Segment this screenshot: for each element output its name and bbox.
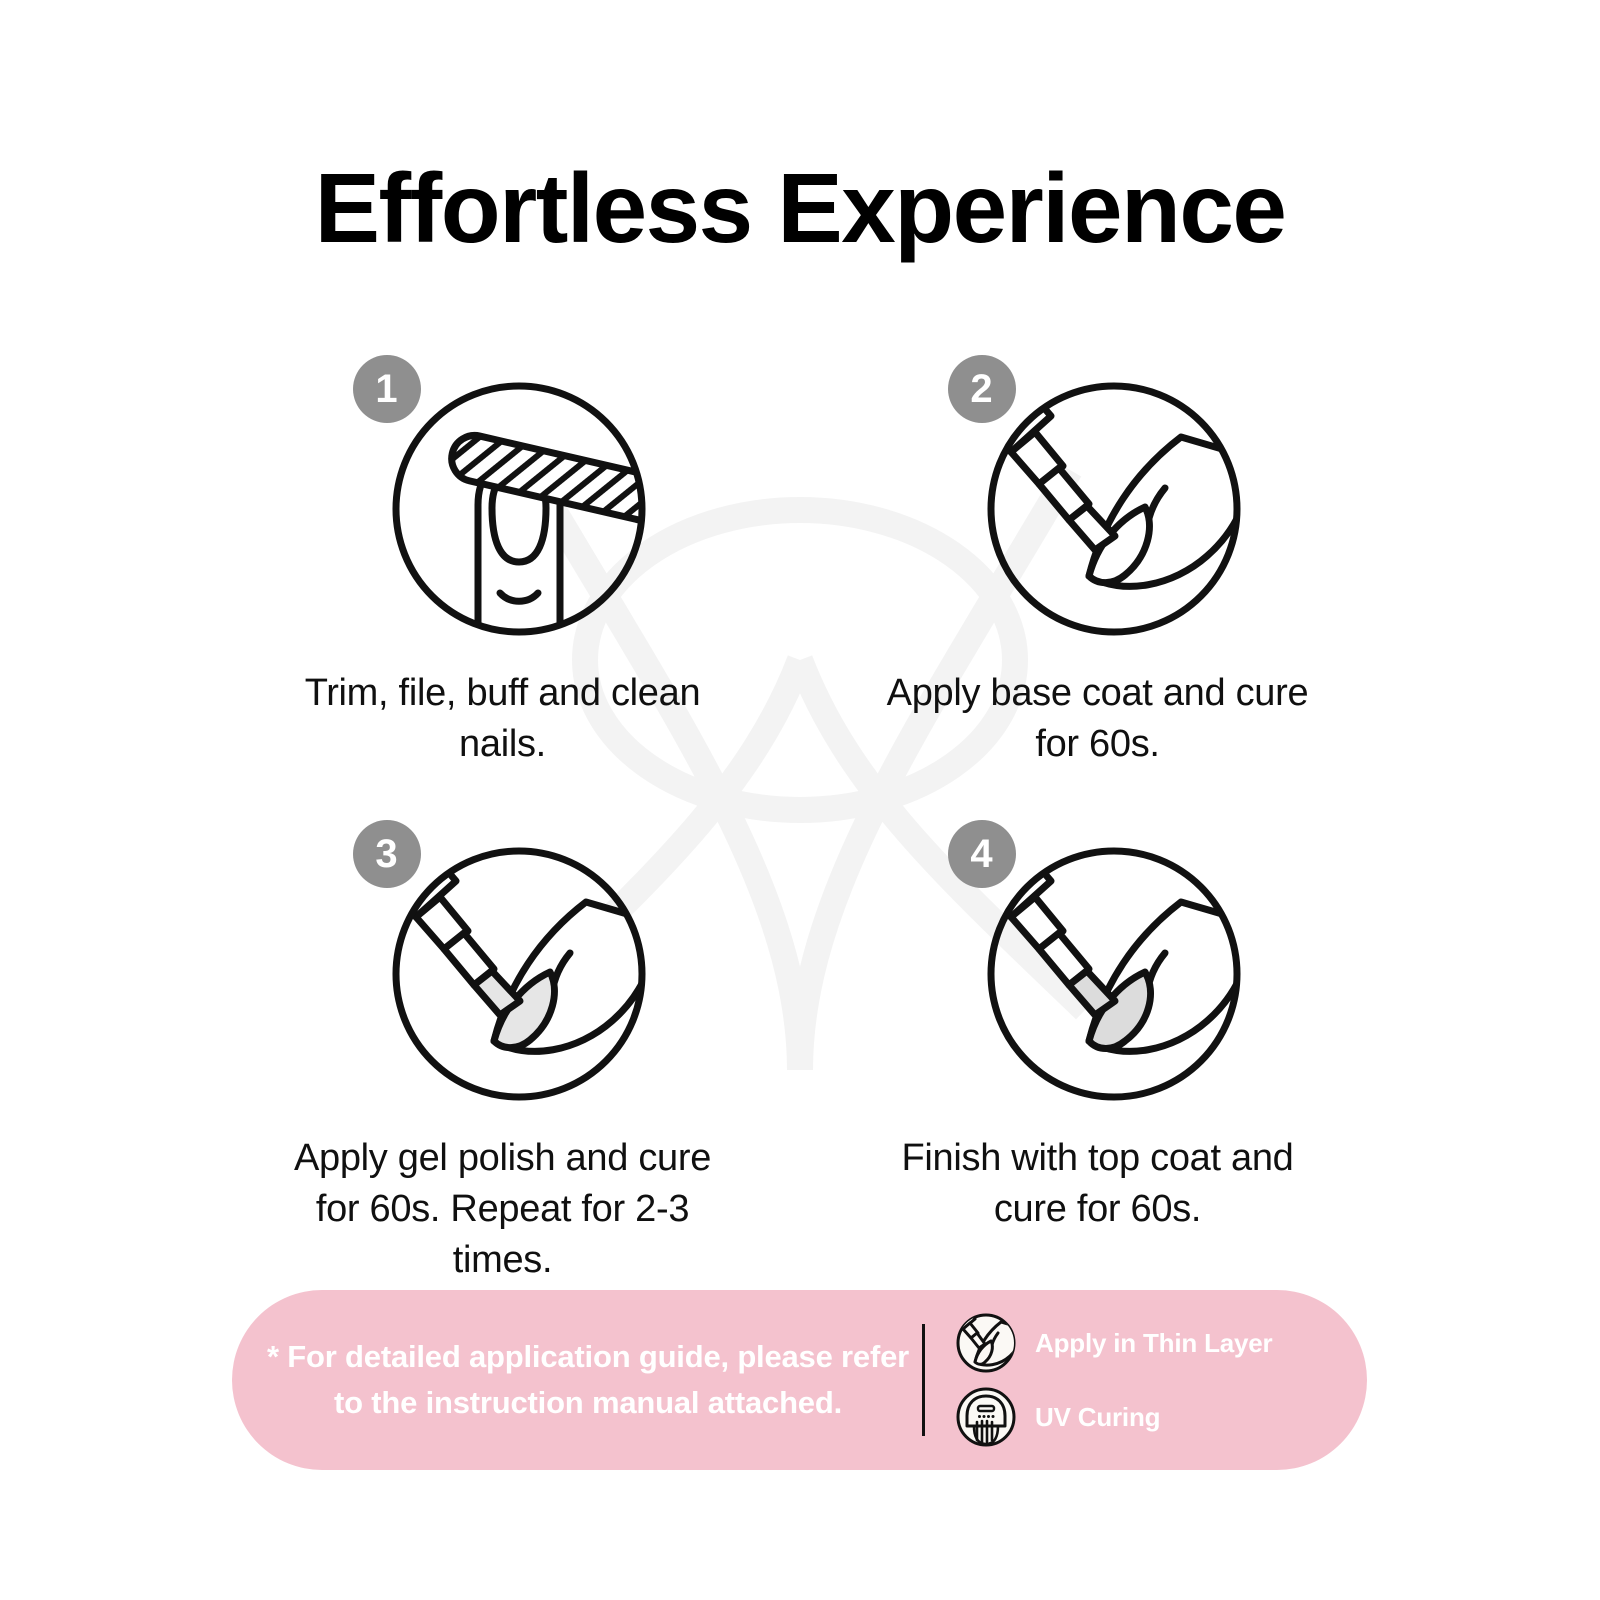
nail-file-on-finger-icon — [390, 380, 648, 638]
step-2-caption: Apply base coat and cure for 60s. — [863, 668, 1333, 770]
step-2: 2 — [810, 355, 1385, 770]
banner-divider — [922, 1324, 925, 1436]
instruction-poster: Effortless Experience 1 — [0, 0, 1600, 1600]
step-1-art: 1 — [353, 355, 653, 640]
banner-badge-uv-curing-label: UV Curing — [1035, 1402, 1160, 1433]
top-coat-brush-icon — [985, 845, 1243, 1103]
step-2-art: 2 — [948, 355, 1248, 640]
uv-lamp-icon — [955, 1386, 1017, 1448]
gel-polish-brush-icon — [390, 845, 648, 1103]
step-1-badge: 1 — [353, 355, 421, 423]
thin-layer-brush-icon — [955, 1312, 1017, 1374]
steps-grid: 1 — [215, 355, 1385, 1286]
step-4: 4 — [810, 820, 1385, 1286]
step-4-art: 4 — [948, 820, 1248, 1105]
step-4-badge: 4 — [948, 820, 1016, 888]
banner-badge-thin-layer-label: Apply in Thin Layer — [1035, 1328, 1272, 1359]
step-2-badge: 2 — [948, 355, 1016, 423]
page-title: Effortless Experience — [0, 152, 1600, 265]
base-coat-brush-icon — [985, 380, 1243, 638]
step-4-caption: Finish with top coat and cure for 60s. — [863, 1133, 1333, 1235]
step-3-art: 3 — [353, 820, 653, 1105]
step-1-caption: Trim, file, buff and clean nails. — [268, 668, 738, 770]
step-3: 3 — [215, 820, 790, 1286]
banner-badges: Apply in Thin Layer — [955, 1312, 1272, 1448]
banner-note-text: * For detailed application guide, please… — [232, 1334, 922, 1427]
step-1: 1 — [215, 355, 790, 770]
footer-note-banner: * For detailed application guide, please… — [232, 1290, 1367, 1470]
step-3-caption: Apply gel polish and cure for 60s. Repea… — [268, 1133, 738, 1286]
banner-badge-uv-curing: UV Curing — [955, 1386, 1272, 1448]
banner-badge-thin-layer: Apply in Thin Layer — [955, 1312, 1272, 1374]
step-3-badge: 3 — [353, 820, 421, 888]
